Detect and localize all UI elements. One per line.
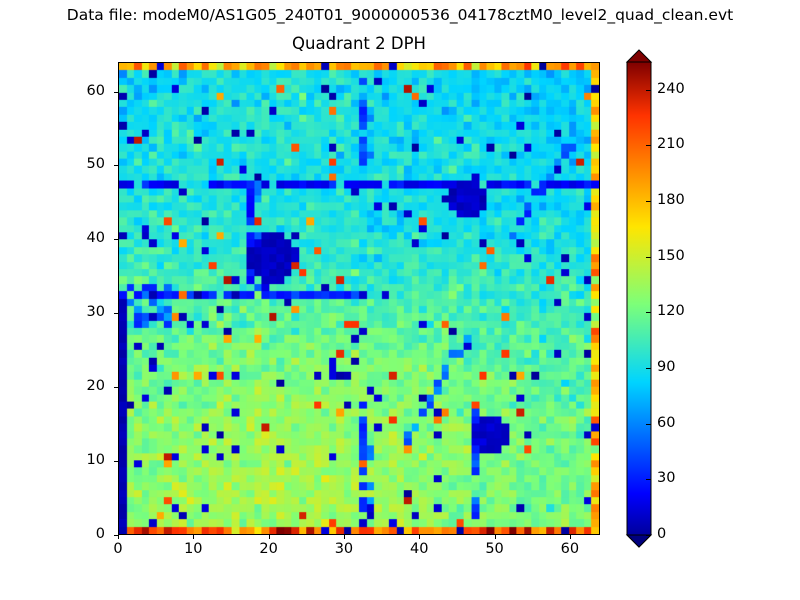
colorbar-tick-mark bbox=[646, 535, 651, 536]
colorbar-tick-label: 60 bbox=[657, 415, 675, 432]
colorbar-tick-mark bbox=[646, 424, 651, 425]
y-tick-label: 10 bbox=[45, 452, 105, 469]
x-tick-label: 40 bbox=[389, 541, 449, 558]
x-tick-label: 60 bbox=[540, 541, 600, 558]
colorbar-body bbox=[627, 62, 651, 547]
y-tick-label: 60 bbox=[45, 83, 105, 100]
y-tick-mark bbox=[114, 92, 118, 93]
colorbar-tick-label: 240 bbox=[657, 81, 685, 98]
figure-canvas: Data file: modeM0/AS1G05_240T01_90000005… bbox=[0, 0, 800, 600]
x-tick-label: 0 bbox=[88, 541, 148, 558]
y-tick-label: 30 bbox=[45, 304, 105, 321]
x-tick-mark bbox=[118, 535, 119, 539]
dph-heatmap-image bbox=[119, 63, 599, 534]
heatmap-axes bbox=[118, 62, 600, 535]
colorbar bbox=[627, 62, 651, 535]
colorbar-extend-min-arrow bbox=[627, 535, 651, 547]
x-tick-mark bbox=[419, 535, 420, 539]
y-tick-mark bbox=[114, 313, 118, 314]
colorbar-tick-label: 120 bbox=[657, 303, 685, 320]
x-tick-label: 30 bbox=[314, 541, 374, 558]
y-tick-label: 20 bbox=[45, 378, 105, 395]
figure-suptitle: Data file: modeM0/AS1G05_240T01_90000005… bbox=[0, 6, 800, 25]
y-tick-mark bbox=[114, 239, 118, 240]
colorbar-tick-mark bbox=[646, 479, 651, 480]
colorbar-tick-mark bbox=[646, 312, 651, 313]
y-tick-label: 0 bbox=[45, 526, 105, 543]
colorbar-tick-label: 90 bbox=[657, 359, 675, 376]
colorbar-tick-mark bbox=[646, 201, 651, 202]
colorbar-tick-label: 0 bbox=[657, 526, 666, 543]
colorbar-tick-mark bbox=[646, 368, 651, 369]
colorbar-tick-mark bbox=[646, 90, 651, 91]
colorbar-gradient bbox=[623, 50, 655, 547]
x-tick-label: 10 bbox=[163, 541, 223, 558]
x-tick-mark bbox=[495, 535, 496, 539]
y-tick-mark bbox=[114, 535, 118, 536]
colorbar-tick-mark bbox=[646, 257, 651, 258]
colorbar-tick-label: 150 bbox=[657, 248, 685, 265]
x-tick-mark bbox=[570, 535, 571, 539]
colorbar-tick-label: 180 bbox=[657, 192, 685, 209]
colorbar-extend-max-arrow bbox=[627, 50, 651, 62]
colorbar-tick-label: 30 bbox=[657, 470, 675, 487]
y-tick-label: 50 bbox=[45, 156, 105, 173]
x-tick-label: 50 bbox=[465, 541, 525, 558]
y-tick-mark bbox=[114, 461, 118, 462]
x-tick-mark bbox=[193, 535, 194, 539]
y-tick-label: 40 bbox=[45, 230, 105, 247]
y-tick-mark bbox=[114, 387, 118, 388]
x-tick-mark bbox=[269, 535, 270, 539]
axes-title: Quadrant 2 DPH bbox=[118, 33, 600, 54]
x-tick-mark bbox=[344, 535, 345, 539]
x-tick-label: 20 bbox=[239, 541, 299, 558]
y-tick-mark bbox=[114, 165, 118, 166]
colorbar-tick-mark bbox=[646, 145, 651, 146]
colorbar-tick-label: 210 bbox=[657, 136, 685, 153]
